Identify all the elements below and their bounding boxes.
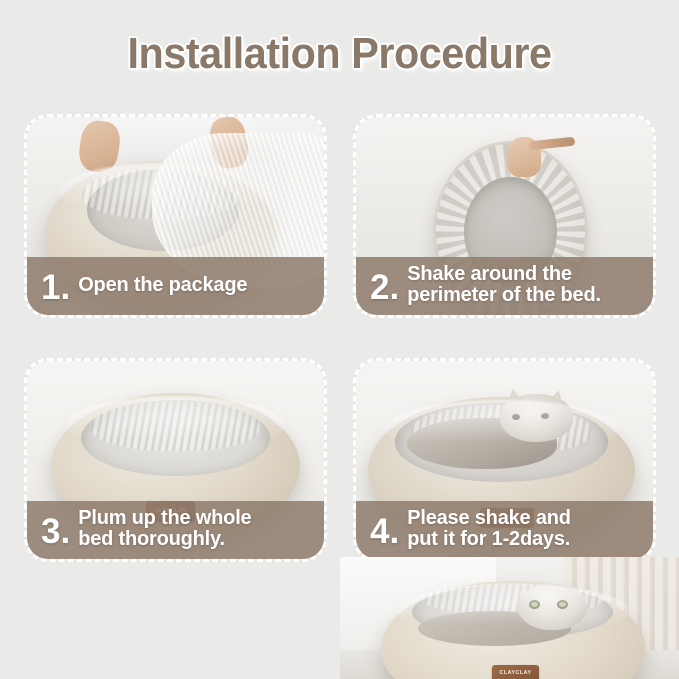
step-number: 2. xyxy=(370,270,399,305)
bed-rim-highlight xyxy=(384,400,619,459)
step-card-4[interactable]: CLAYCLAY 4. Please shake and put it for … xyxy=(353,358,656,562)
step-1-caption: 1. Open the package xyxy=(27,257,324,315)
step-3-caption: 3. Plum up the whole bed thoroughly. xyxy=(27,501,324,559)
hero-brand-tag: CLAYCLAY xyxy=(492,665,540,679)
page-header: Installation Procedure xyxy=(0,0,679,108)
bed-rim-highlight xyxy=(66,396,286,455)
step-text-line1: Open the package xyxy=(78,274,247,296)
hero-photo: CLAYCLAY xyxy=(340,557,679,679)
step-text-line1: Please shake and xyxy=(407,507,571,529)
hero-pet-bed: CLAYCLAY xyxy=(381,581,645,679)
step-number: 1. xyxy=(41,270,70,305)
steps-row-2: CLAYCLAY 3. Plum up the whole bed thorou… xyxy=(24,358,656,562)
steps-row-1: 1. Open the package 2. xyxy=(24,114,656,318)
hero-brand-tag-label: CLAYCLAY xyxy=(500,671,532,677)
step-text: Shake around the perimeter of the bed. xyxy=(407,264,601,306)
step-card-1[interactable]: 1. Open the package xyxy=(24,114,327,318)
step-text-line2: bed thoroughly. xyxy=(78,529,251,550)
step-text-line2: perimeter of the bed. xyxy=(407,285,601,306)
step-card-2[interactable]: 2. Shake around the perimeter of the bed… xyxy=(353,114,656,318)
steps-grid: 1. Open the package 2. xyxy=(24,114,656,562)
step-text-line1: Plum up the whole xyxy=(78,507,251,529)
step-number: 4. xyxy=(370,514,399,549)
step-text: Plum up the whole bed thoroughly. xyxy=(78,508,251,550)
bed-rim-highlight xyxy=(397,584,630,638)
step-number: 3. xyxy=(41,514,70,549)
step-text: Please shake and put it for 1-2days. xyxy=(407,508,571,550)
step-text-line1: Shake around the xyxy=(407,263,572,285)
step-text: Open the package xyxy=(78,275,247,296)
step-4-caption: 4. Please shake and put it for 1-2days. xyxy=(356,501,653,559)
step-card-3[interactable]: CLAYCLAY 3. Plum up the whole bed thorou… xyxy=(24,358,327,562)
step-2-caption: 2. Shake around the perimeter of the bed… xyxy=(356,257,653,315)
step-text-line2: put it for 1-2days. xyxy=(407,529,571,550)
page-title: Installation Procedure xyxy=(127,29,551,79)
